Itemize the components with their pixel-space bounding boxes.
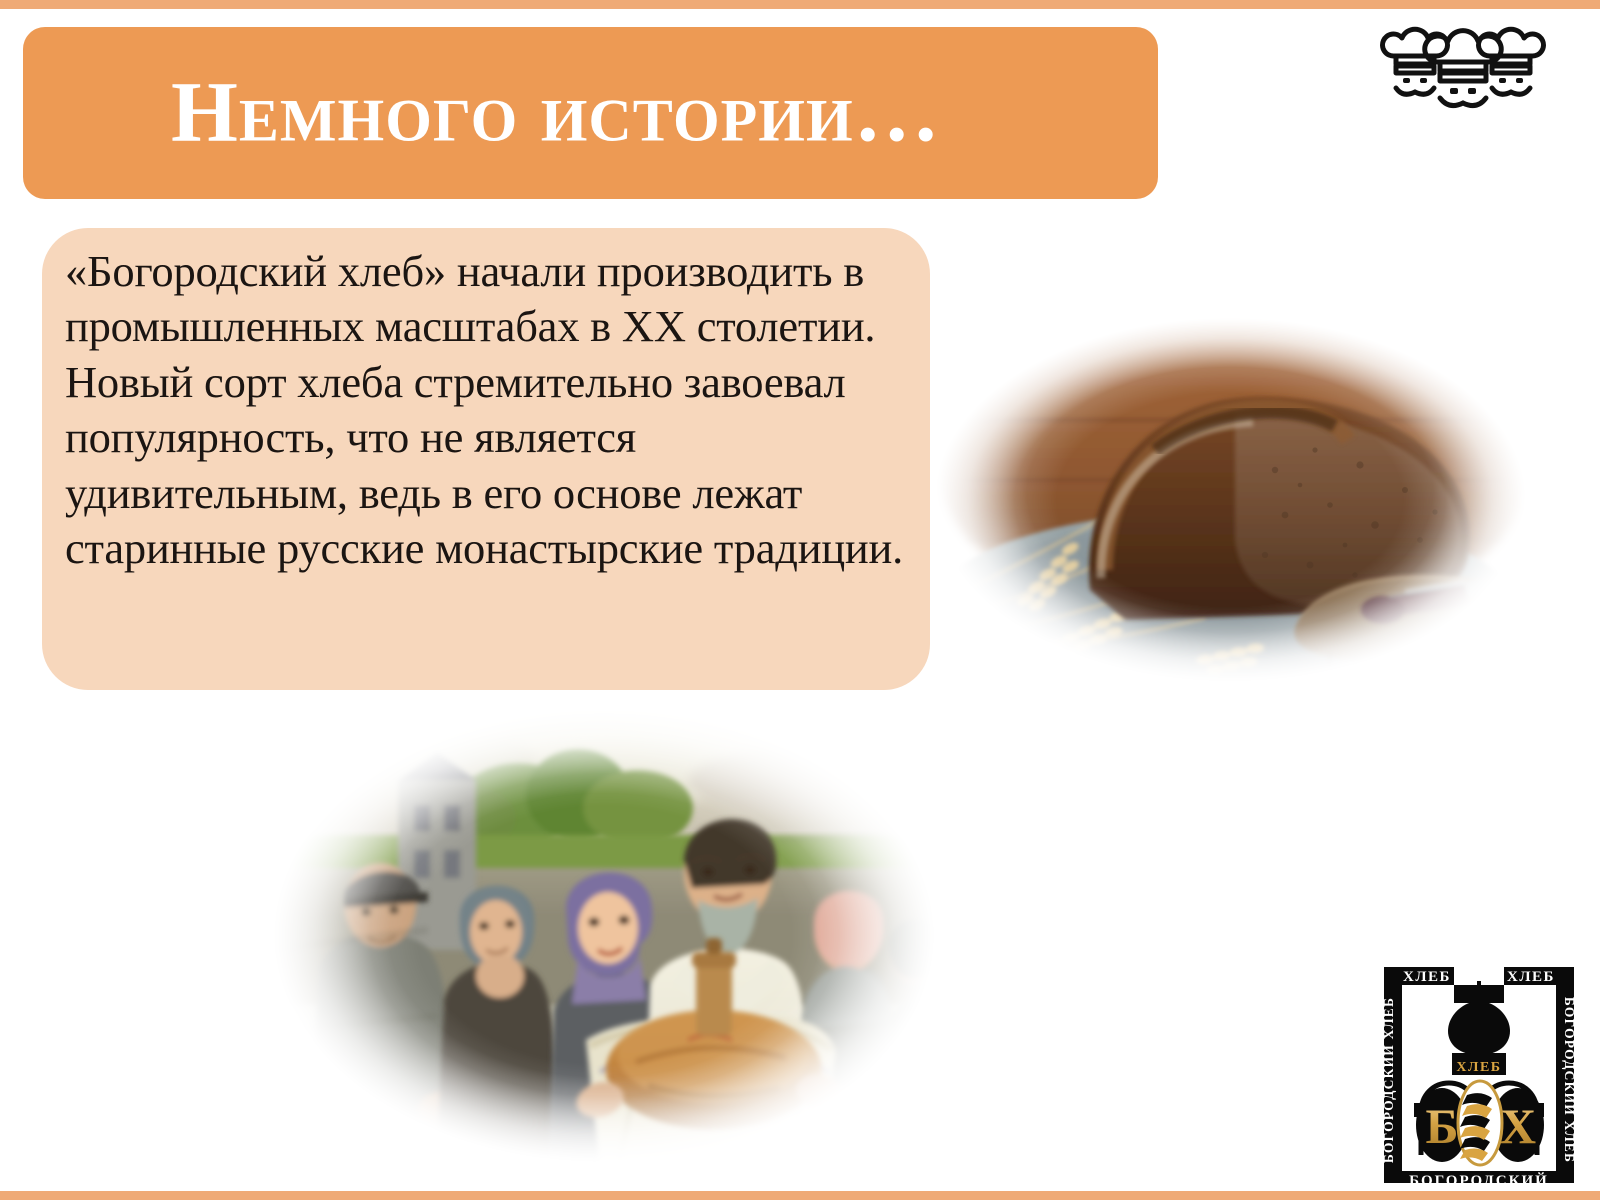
- bread-and-salt-painting: [248, 700, 960, 1170]
- body-paragraph: «Богородский хлеб» начали производить в …: [65, 244, 915, 576]
- svg-text:БОГОРОДСКИЙ ХЛЕБ: БОГОРОДСКИЙ ХЛЕБ: [1562, 997, 1577, 1163]
- svg-text:БОГОРОДСКИЙ: БОГОРОДСКИЙ: [1409, 1172, 1549, 1183]
- body-text-card: «Богородский хлеб» начали производить в …: [42, 228, 930, 690]
- bogorodsky-hleb-logo: ХЛЕБ ХЛЕБ БОГОРОДСКИЙ ХЛЕБ БОГОРОДСКИЙ Х…: [1368, 945, 1590, 1183]
- bottom-orange-strip: [0, 1191, 1600, 1200]
- svg-text:ХЛЕБ: ХЛЕБ: [1456, 1060, 1501, 1075]
- page-title: Немного истории…: [171, 68, 941, 154]
- top-orange-strip: [0, 0, 1600, 9]
- svg-text:ХЛЕБ: ХЛЕБ: [1507, 969, 1555, 985]
- svg-text:БОГОРОДСКИЙ ХЛЕБ: БОГОРОДСКИЙ ХЛЕБ: [1381, 997, 1396, 1163]
- three-chef-hats-icon: [1378, 18, 1546, 118]
- svg-text:Б: Б: [1425, 1098, 1458, 1154]
- title-banner: Немного истории…: [23, 27, 1158, 199]
- svg-text:Х: Х: [1500, 1098, 1536, 1154]
- sliced-rye-bread-photo: [905, 300, 1555, 700]
- svg-text:ХЛЕБ: ХЛЕБ: [1403, 969, 1451, 985]
- slide-canvas: Немного истории…: [0, 0, 1600, 1200]
